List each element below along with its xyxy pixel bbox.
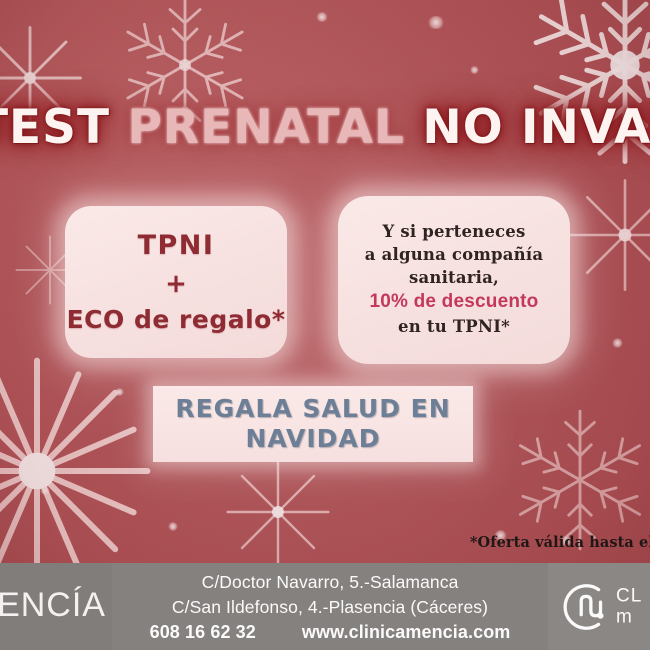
phone-number[interactable]: 608 16 62 32 [150, 620, 256, 646]
headline-part-prenatal: PRENATAL [127, 100, 405, 155]
clinic-wordmark: ENCÍA [0, 586, 112, 625]
christmas-line2: NAVIDAD [245, 424, 380, 455]
footer-logo-right-panel: CL m [548, 563, 650, 650]
offer-right-line3: sanitaria, [409, 267, 499, 290]
address-line-2: C/San Ildefonso, 4.-Plasencia (Cáceres) [172, 595, 488, 620]
offer-card-left: TPNI + ECO de regalo* [65, 206, 287, 358]
offer-card-right: Y si perteneces a alguna compañía sanita… [338, 196, 570, 364]
promo-poster: TEST PRENATAL NO INVASIVO TPNI + ECO de … [0, 0, 650, 650]
offer-right-line5: en tu TPNI* [398, 316, 510, 339]
footer-contact-bar: ENCÍA C/Doctor Navarro, 5.-Salamanca C/S… [0, 563, 650, 650]
headline-part-no-invasivo: NO INVASIVO [422, 100, 650, 155]
christmas-line1: REGALA SALUD EN [175, 394, 450, 425]
clinic-logo-text: CL m [616, 585, 642, 628]
offer-disclaimer: *Oferta válida hasta el [470, 534, 650, 551]
christmas-message-band: REGALA SALUD EN NAVIDAD [153, 386, 473, 462]
address-line-1: C/Doctor Navarro, 5.-Salamanca [202, 570, 459, 595]
website-url[interactable]: www.clinicamencia.com [302, 620, 511, 646]
offer-left-line3: ECO de regalo* [67, 305, 286, 334]
headline-part-test: TEST [0, 100, 110, 155]
footer-logo-left-panel: ENCÍA [0, 563, 112, 650]
clinic-logo-text-line2: m [616, 607, 642, 628]
offer-right-line1: Y si perteneces [382, 221, 525, 244]
offer-left-line1: TPNI [138, 230, 215, 261]
offer-right-line2: a alguna compañía [365, 244, 543, 267]
cm-monogram-icon [558, 578, 616, 636]
clinic-logo-text-line1: CL [616, 585, 642, 606]
footer-contact-details: C/Doctor Navarro, 5.-Salamanca C/San Ild… [112, 563, 548, 650]
page-title: TEST PRENATAL NO INVASIVO [0, 104, 650, 151]
discount-highlight: 10% de descuento [370, 289, 539, 316]
offer-left-plus: + [165, 269, 187, 299]
